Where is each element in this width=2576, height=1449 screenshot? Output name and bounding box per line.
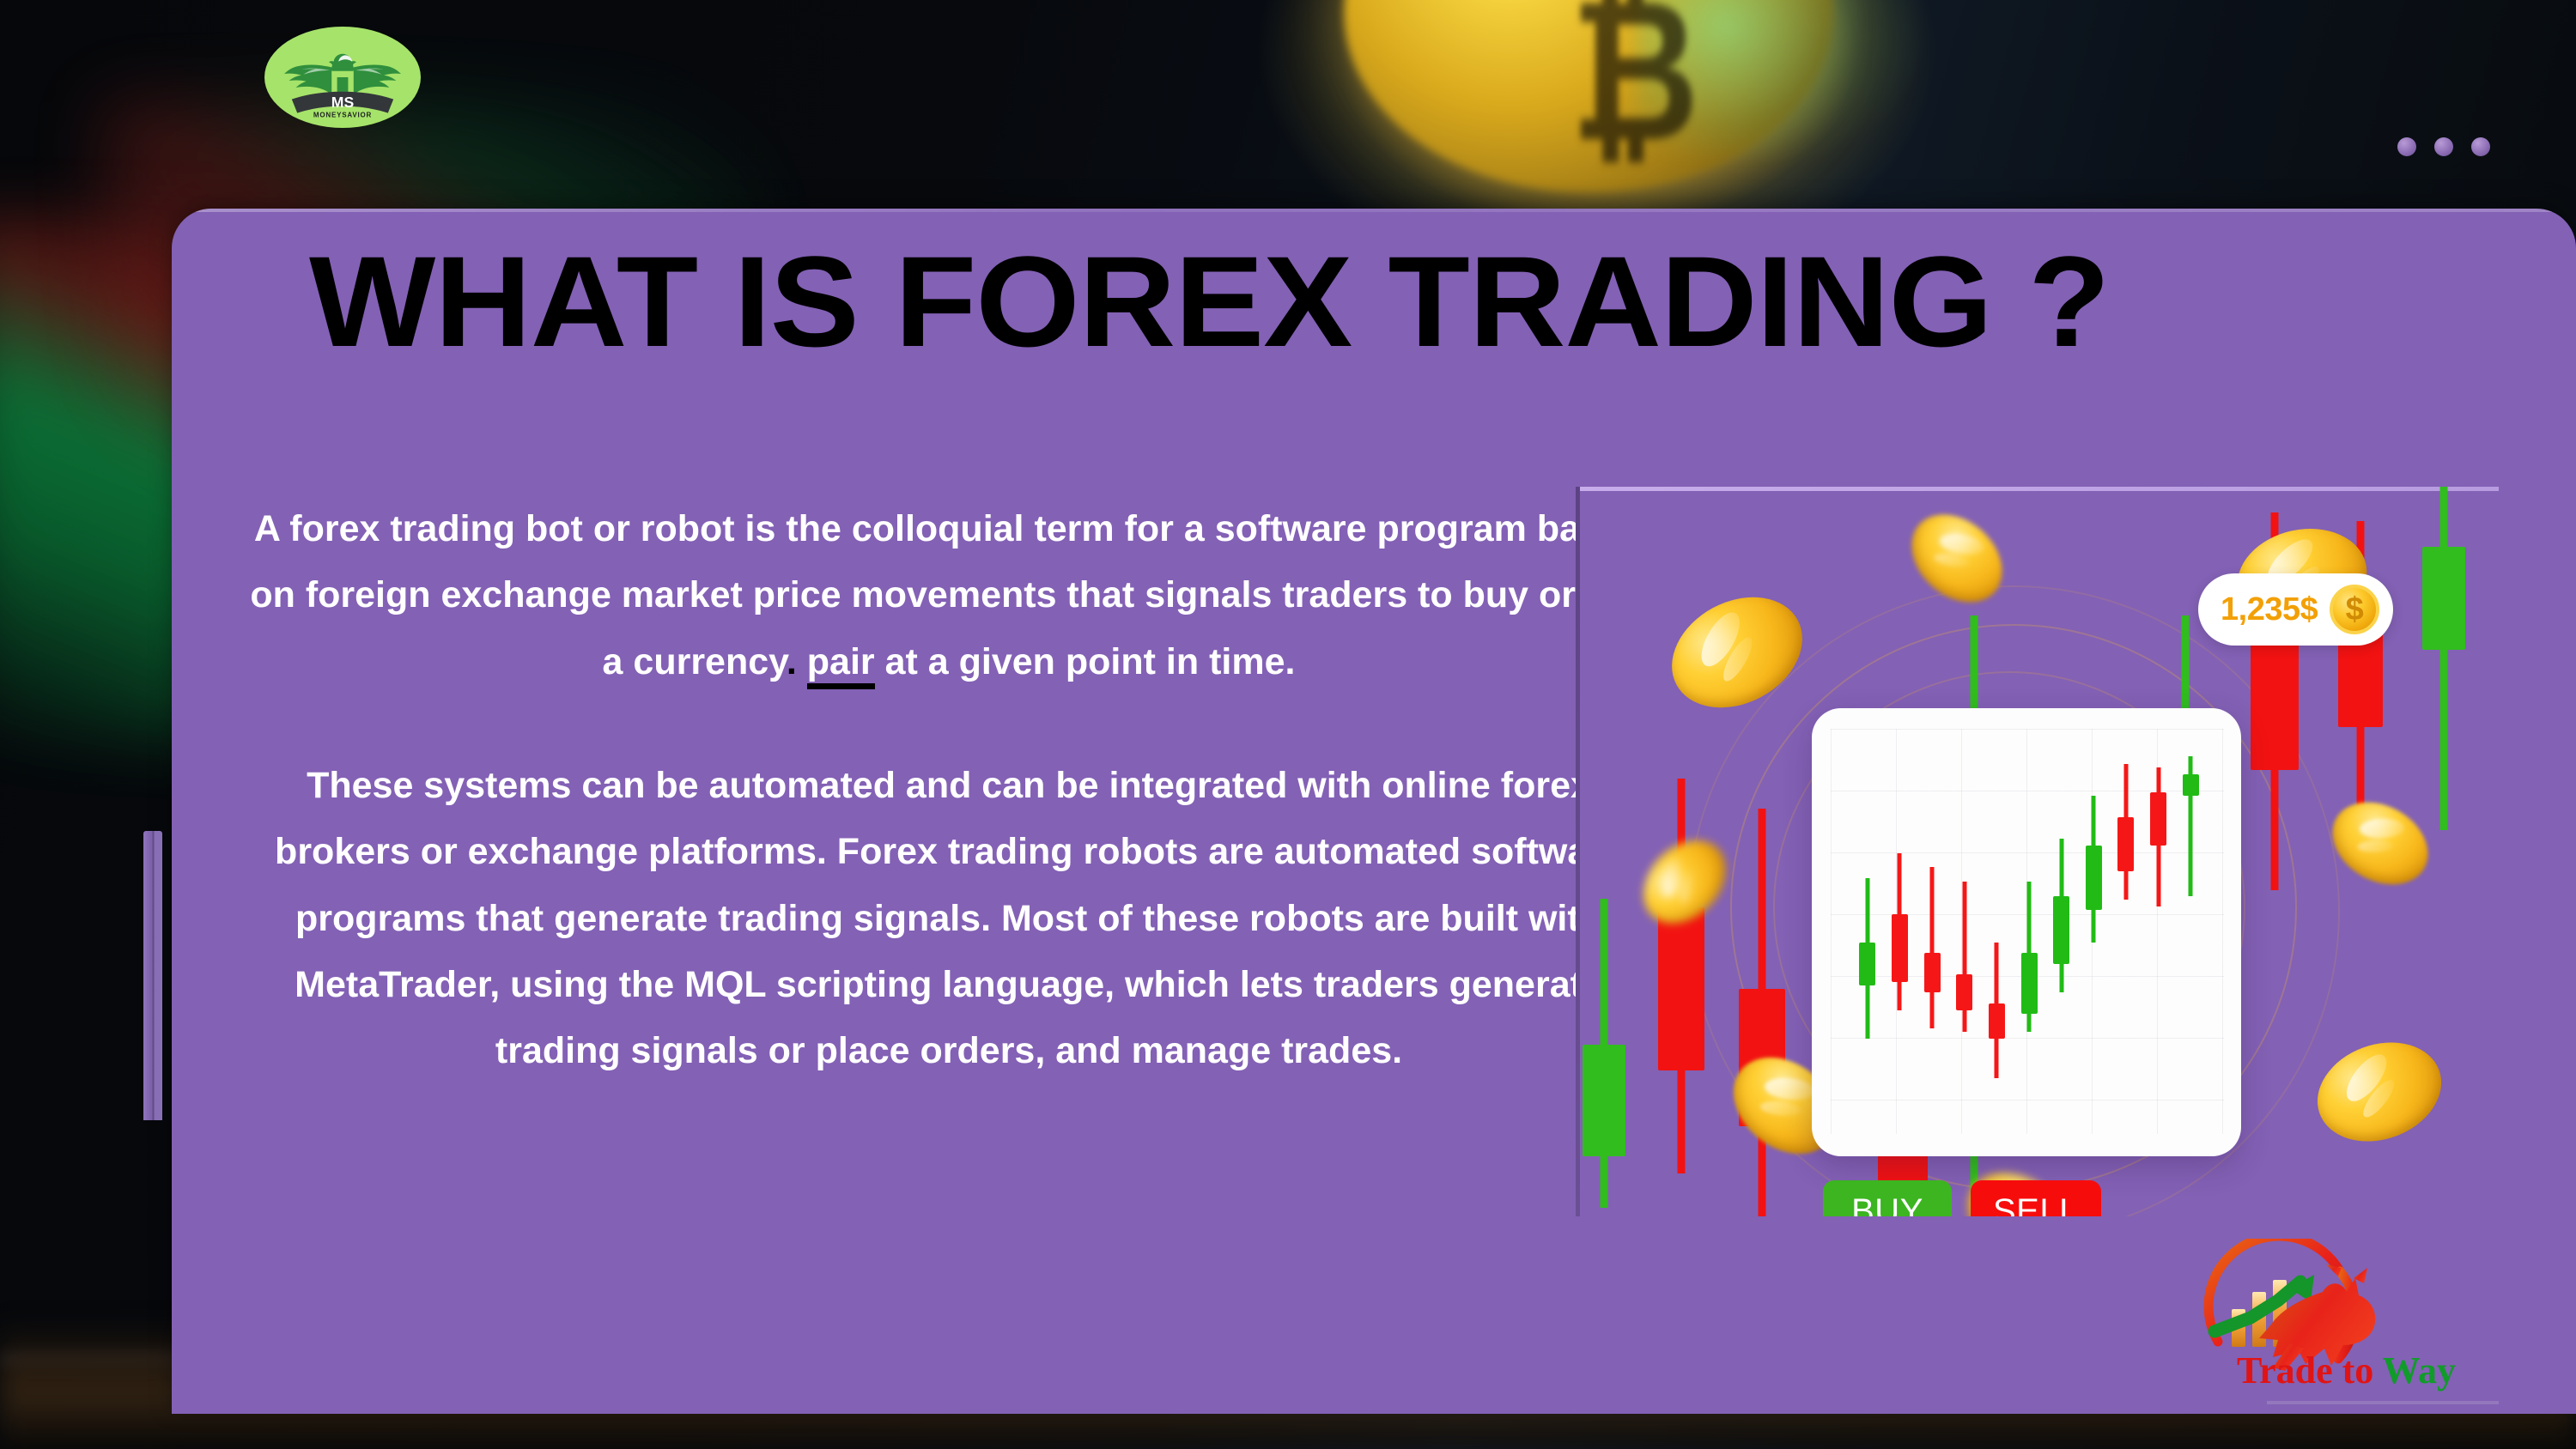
candlestick: [2150, 767, 2166, 906]
background-candlestick: [1583, 899, 1625, 1208]
price-badge: 1,235$ $: [2198, 573, 2393, 646]
coin-shine: [2358, 840, 2395, 852]
watermark-text: Trade to Way: [2237, 1349, 2456, 1392]
logo-initials: MS: [331, 94, 355, 111]
candlestick-body: [1859, 943, 1875, 985]
background-candlestick: [2422, 487, 2465, 830]
candlestick-body: [1956, 974, 1972, 1010]
buy-button[interactable]: BUY: [1823, 1180, 1952, 1216]
logo-wordmark: MONEYSAVIOR: [313, 111, 372, 118]
body-text-column: A forex trading bot or robot is the coll…: [236, 496, 1662, 1085]
bitcoin-symbol-icon: ₿: [1571, 0, 1699, 186]
watermark-text-primary: Trade to: [2237, 1349, 2382, 1391]
trade-to-way-logo: Trade to Way: [2194, 1239, 2486, 1389]
eagle-emblem-icon: MS MONEYSAVIOR: [274, 33, 411, 122]
candlestick-body: [1658, 907, 1704, 1070]
watermark-underline: [2267, 1401, 2499, 1404]
paragraph-1-underlined-term: pair: [807, 641, 875, 689]
candlestick-chart-card: [1812, 708, 2241, 1156]
chart-plot-area: [1812, 708, 2241, 1156]
slide-card: WHAT IS FOREX TRADING ? A forex trading …: [172, 209, 2576, 1414]
dollar-coin-icon: $: [2330, 585, 2379, 634]
trade-actions: BUY SELL: [1823, 1180, 2101, 1216]
candlestick-body: [2150, 792, 2166, 846]
candlestick: [2086, 796, 2102, 943]
more-options-dot-icon: [2434, 137, 2453, 156]
candlestick: [1924, 867, 1941, 1028]
price-amount: 1,235$: [2221, 591, 2318, 628]
candlestick: [1892, 853, 1908, 1010]
moneysavior-logo[interactable]: MS MONEYSAVIOR: [264, 27, 421, 128]
candlestick: [1989, 943, 2005, 1078]
paragraph-1-period: .: [787, 641, 797, 682]
candlestick-body: [2117, 817, 2134, 870]
candlestick: [2183, 756, 2199, 895]
more-options-dot-icon: [2471, 137, 2490, 156]
more-options-menu[interactable]: [2397, 137, 2490, 156]
candlestick-body: [1924, 953, 1941, 992]
background-candlestick: [1739, 809, 1785, 1216]
page-title: WHAT IS FOREX TRADING ?: [309, 234, 2363, 370]
coin-shine: [2360, 817, 2405, 838]
forex-trading-illustration: 1,235$ $ BUY SELL: [1576, 487, 2499, 1216]
candlestick: [2053, 839, 2069, 992]
candlestick-body: [1892, 914, 1908, 982]
gold-coin-icon: [2304, 1026, 2456, 1158]
paragraph-1-tail: at a given point in time.: [875, 641, 1296, 682]
paragraph-1: A forex trading bot or robot is the coll…: [236, 496, 1662, 695]
more-options-dot-icon: [2397, 137, 2416, 156]
candlestick-body: [2086, 846, 2102, 910]
side-scroll-handle[interactable]: [143, 831, 162, 1120]
candlestick: [2117, 764, 2134, 900]
candlestick-body: [1583, 1045, 1625, 1156]
candlestick-body: [2021, 953, 2038, 1014]
sell-button[interactable]: SELL: [1971, 1180, 2101, 1216]
watermark-text-secondary: Way: [2382, 1349, 2456, 1391]
coin-shine: [1759, 1100, 1801, 1118]
paragraph-2: These systems can be automated and can b…: [236, 753, 1662, 1085]
candlestick-body: [2053, 896, 2069, 964]
candlestick: [1859, 878, 1875, 1039]
candlestick: [2021, 882, 2038, 1032]
coin-shine: [1764, 1076, 1815, 1102]
candlestick-body: [1989, 1003, 2005, 1040]
candlestick-wick: [2440, 487, 2448, 830]
candlestick-wick: [1930, 867, 1935, 1028]
paragraph-1-space: [797, 641, 807, 682]
candlestick-body: [2422, 547, 2465, 650]
background-candlestick: [1658, 779, 1704, 1173]
candlestick: [1956, 882, 1972, 1032]
candlestick-body: [2183, 774, 2199, 796]
